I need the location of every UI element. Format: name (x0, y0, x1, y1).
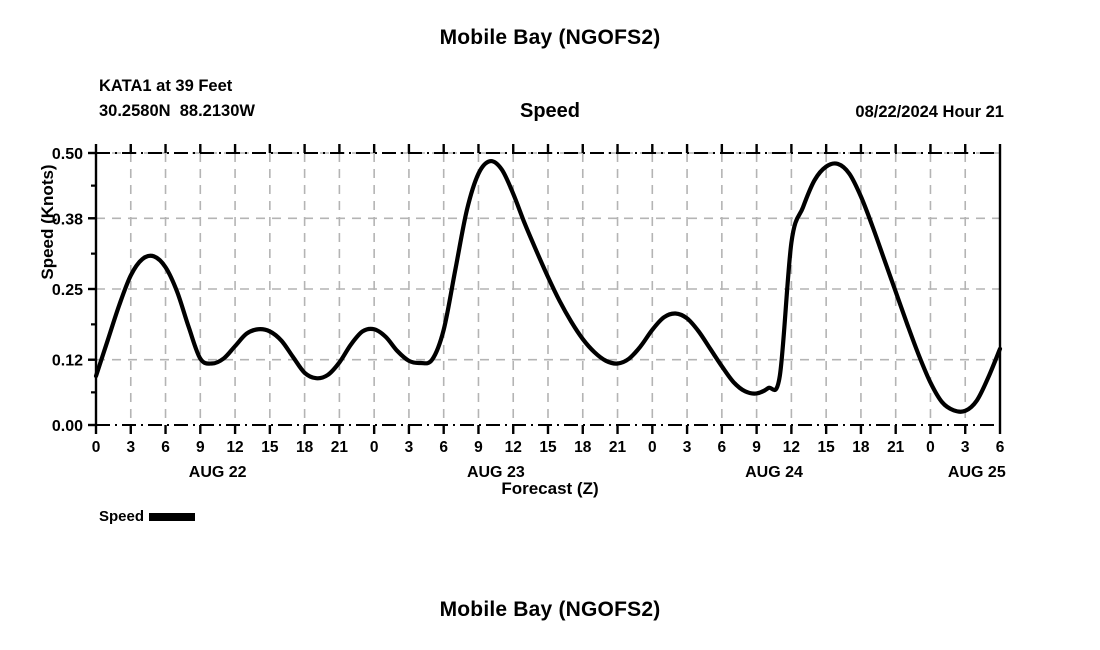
x-tick-label: 6 (439, 439, 448, 456)
x-tick-label: 12 (505, 439, 522, 456)
x-tick-label: 3 (405, 439, 414, 456)
x-tick-label: 9 (196, 439, 205, 456)
y-tick-label: 0.50 (52, 146, 83, 163)
x-tick-label: 12 (783, 439, 800, 456)
x-tick-label: 21 (609, 439, 627, 456)
x-tick-label: 0 (92, 439, 101, 456)
x-tick-label: 15 (261, 439, 279, 456)
plot-area: 0.000.120.250.380.5003691215182103691215… (0, 0, 1100, 650)
x-tick-label: 18 (574, 439, 592, 456)
x-axis-label: Forecast (Z) (0, 479, 1100, 499)
x-tick-label: 0 (648, 439, 657, 456)
chart-legend: Speed (99, 508, 195, 525)
page-title-bottom: Mobile Bay (NGOFS2) (0, 598, 1100, 622)
x-tick-label: 3 (961, 439, 970, 456)
x-tick-label: 3 (126, 439, 135, 456)
speed-line-chart: 0.000.120.250.380.5003691215182103691215… (0, 0, 1100, 650)
x-tick-label: 6 (718, 439, 727, 456)
legend-line-swatch (149, 513, 195, 521)
legend-label: Speed (99, 508, 144, 525)
y-tick-label: 0.00 (52, 418, 83, 435)
x-tick-label: 15 (818, 439, 836, 456)
x-tick-label: 21 (887, 439, 905, 456)
x-tick-label: 9 (474, 439, 483, 456)
x-tick-label: 18 (296, 439, 314, 456)
x-tick-label: 6 (996, 439, 1005, 456)
x-tick-label: 9 (752, 439, 761, 456)
x-tick-label: 0 (370, 439, 379, 456)
x-tick-label: 15 (539, 439, 557, 456)
x-tick-label: 12 (226, 439, 243, 456)
x-tick-label: 18 (852, 439, 870, 456)
x-tick-label: 21 (331, 439, 349, 456)
y-tick-label: 0.38 (52, 211, 83, 228)
x-tick-label: 6 (161, 439, 170, 456)
x-tick-label: 3 (683, 439, 692, 456)
x-tick-label: 0 (926, 439, 935, 456)
y-tick-label: 0.25 (52, 282, 83, 299)
chart-page: Mobile Bay (NGOFS2) KATA1 at 39 Feet 30.… (0, 0, 1100, 650)
y-tick-label: 0.12 (52, 353, 83, 370)
